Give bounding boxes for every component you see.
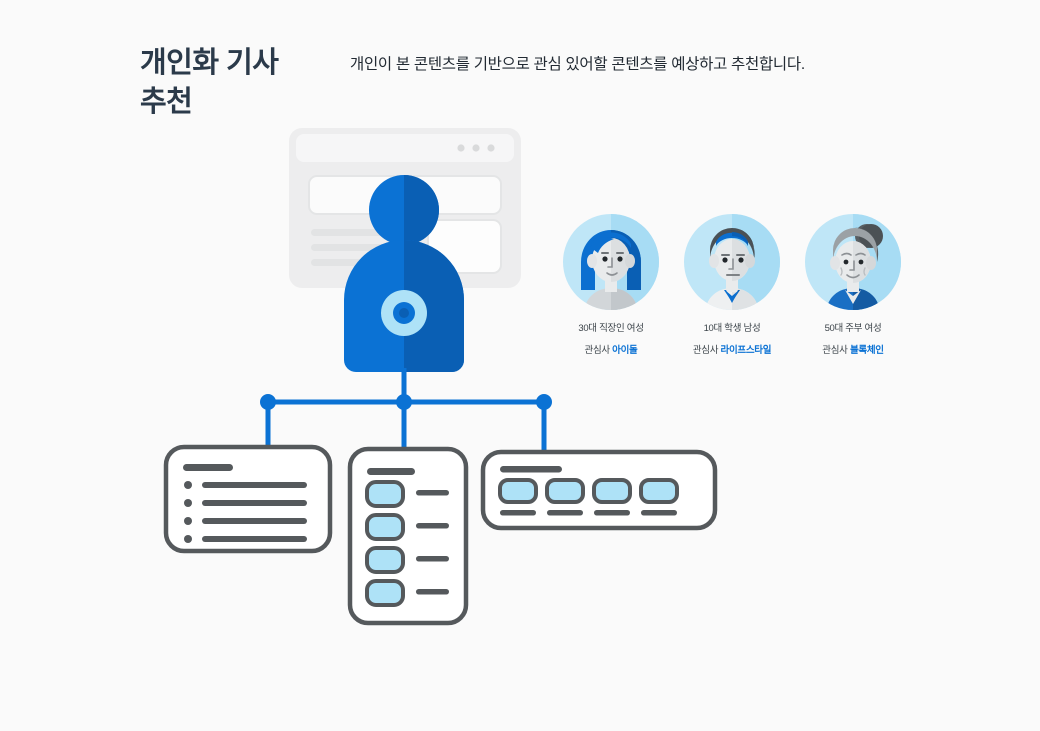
persona-interest-2: 관심사 라이프스타일 (683, 344, 781, 359)
thumbnail-carousel-card[interactable] (483, 452, 715, 528)
persona-card-2[interactable]: 10대 학생 남성 관심사 라이프스타일 (683, 214, 781, 358)
page-subtitle: 개인이 본 콘텐츠를 기반으로 관심 있어할 콘텐츠를 예상하고 추천합니다. (350, 52, 805, 74)
page-title-line-1: 개인화 기사 (140, 44, 340, 83)
persona-interest-value-1: 아이돌 (612, 345, 637, 356)
persona-interest-label-1: 관심사 (585, 345, 610, 356)
teen-male-student-avatar-icon (684, 214, 780, 310)
page-title: 개인화 기사 추천 (140, 44, 340, 121)
recommendation-connector-tree (268, 368, 544, 452)
woman-50s-homemaker-avatar-icon (805, 214, 901, 310)
mobile-feed-card[interactable] (350, 449, 466, 623)
persona-demographic-2: 10대 학생 남성 (683, 322, 781, 337)
persona-card-3[interactable]: 50대 주부 여성 관심사 블록체인 (804, 214, 902, 358)
persona-interest-label-3: 관심사 (822, 345, 847, 356)
persona-list: 30대 직장인 여성 관심사 아이돌 (562, 214, 902, 358)
persona-demographic-1: 30대 직장인 여성 (562, 322, 660, 337)
woman-30s-office-worker-avatar-icon (563, 214, 659, 310)
persona-card-1[interactable]: 30대 직장인 여성 관심사 아이돌 (562, 214, 660, 358)
page-title-line-2: 추천 (140, 83, 340, 122)
persona-interest-3: 관심사 블록체인 (804, 344, 902, 359)
persona-interest-label-2: 관심사 (693, 345, 718, 356)
persona-interest-value-2: 라이프스타일 (721, 345, 772, 356)
persona-interest-value-3: 블록체인 (850, 345, 884, 356)
persona-interest-1: 관심사 아이돌 (562, 344, 660, 359)
persona-demographic-3: 50대 주부 여성 (804, 322, 902, 337)
window-dots-icon (457, 144, 494, 151)
article-list-card[interactable] (166, 447, 330, 551)
